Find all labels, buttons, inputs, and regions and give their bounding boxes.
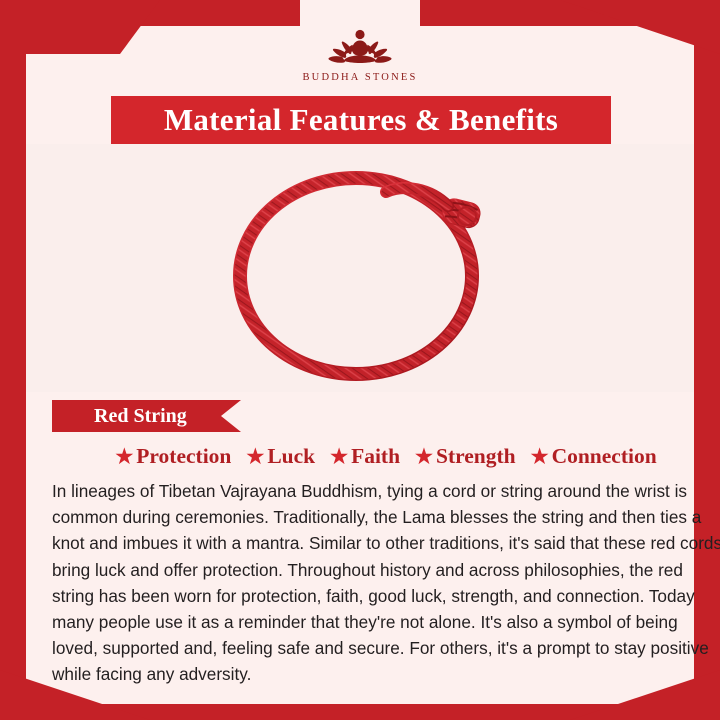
section-label-tab: Red String [52,400,221,432]
benefit-keyword-strength: ★ Strength [415,444,516,469]
benefit-keyword-luck: ★ Luck [246,444,315,469]
benefit-keyword-label: Connection [552,444,657,469]
star-icon: ★ [330,447,348,467]
star-icon: ★ [115,447,133,467]
product-info-card: BUDDHA STONES Material Features & Benefi… [0,0,720,720]
benefit-keyword-label: Luck [267,444,315,469]
section-label: Red String [94,405,187,428]
benefit-keyword-connection: ★ Connection [531,444,657,469]
benefit-keyword-faith: ★ Faith [330,444,400,469]
title-banner: Material Features & Benefits [111,96,611,144]
benefit-keyword-label: Faith [351,444,400,469]
red-braided-string-bracelet-image [190,144,530,392]
star-icon: ★ [531,447,549,467]
card-inner: BUDDHA STONES Material Features & Benefi… [26,26,694,704]
benefit-keyword-label: Protection [136,444,231,469]
benefit-keyword-row: ★ Protection ★ Luck ★ Faith ★ Strength ★… [52,444,720,469]
page-title: Material Features & Benefits [164,102,558,138]
benefit-keyword-protection: ★ Protection [115,444,231,469]
lotus-meditation-figure-icon [306,26,414,74]
star-icon: ★ [415,447,433,467]
star-icon: ★ [246,447,264,467]
frame-left-bar [0,0,26,720]
brand-logo: BUDDHA STONES [26,26,694,94]
benefit-keyword-label: Strength [436,444,516,469]
brand-name: BUDDHA STONES [26,72,694,83]
hero-image-area [26,144,694,392]
description-text: In lineages of Tibetan Vajrayana Buddhis… [52,478,720,688]
